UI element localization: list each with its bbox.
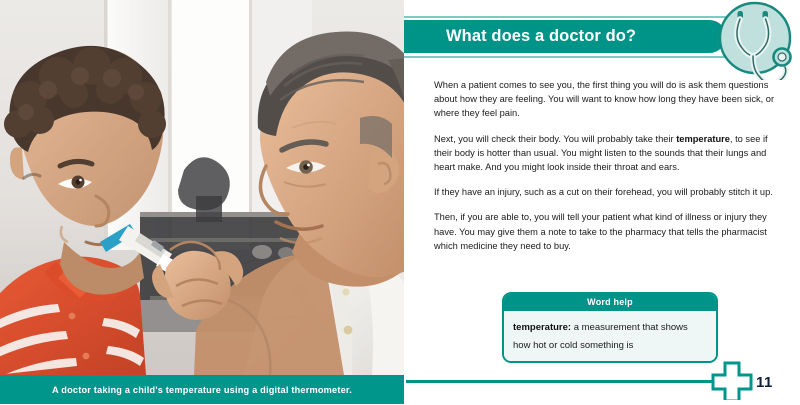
page-number: 11 bbox=[756, 374, 773, 391]
word-help-body: temperature: a measurement that shows ho… bbox=[504, 311, 716, 361]
medical-cross-icon bbox=[710, 360, 754, 400]
paragraph-2: Next, you will check their body. You wil… bbox=[434, 132, 782, 175]
paragraph-3-run-1: If they have an injury, such as a cut on… bbox=[434, 187, 773, 197]
paragraph-4: Then, if you are able to, you will tell … bbox=[434, 210, 782, 253]
book-page-spread: A doctor taking a child's temperature us… bbox=[0, 0, 800, 404]
stethoscope-icon bbox=[710, 0, 796, 80]
paragraph-2-run-1: Next, you will check their body. You wil… bbox=[434, 134, 676, 144]
header-rule-top bbox=[404, 16, 730, 18]
page-title: What does a doctor do? bbox=[446, 27, 636, 46]
keyword-temperature: temperature bbox=[676, 134, 730, 144]
photo-caption-text: A doctor taking a child's temperature us… bbox=[52, 385, 352, 395]
section-header: What does a doctor do? bbox=[404, 16, 734, 58]
photo-column: A doctor taking a child's temperature us… bbox=[0, 0, 404, 404]
paragraph-3: If they have an injury, such as a cut on… bbox=[434, 185, 782, 199]
footer-rule bbox=[406, 380, 714, 383]
paragraph-1-run-1: When a patient comes to see you, the fir… bbox=[434, 80, 774, 118]
word-help-definition-line: temperature: a measurement that shows ho… bbox=[513, 322, 688, 351]
word-help-heading: Word help bbox=[504, 294, 716, 311]
photo-caption-bar: A doctor taking a child's temperature us… bbox=[0, 375, 404, 404]
paragraph-4-run-1: Then, if you are able to, you will tell … bbox=[434, 212, 767, 250]
word-help-box: Word help temperature: a measurement tha… bbox=[502, 292, 718, 363]
word-help-term: temperature: bbox=[513, 322, 571, 333]
paragraph-1: When a patient comes to see you, the fir… bbox=[434, 78, 782, 121]
photo-illustration bbox=[0, 0, 404, 375]
text-column: What does a doctor do? bbox=[404, 0, 800, 404]
header-banner: What does a doctor do? bbox=[404, 20, 726, 53]
photograph bbox=[0, 0, 404, 375]
article-body: When a patient comes to see you, the fir… bbox=[434, 78, 782, 264]
header-rule-bottom bbox=[404, 56, 730, 58]
